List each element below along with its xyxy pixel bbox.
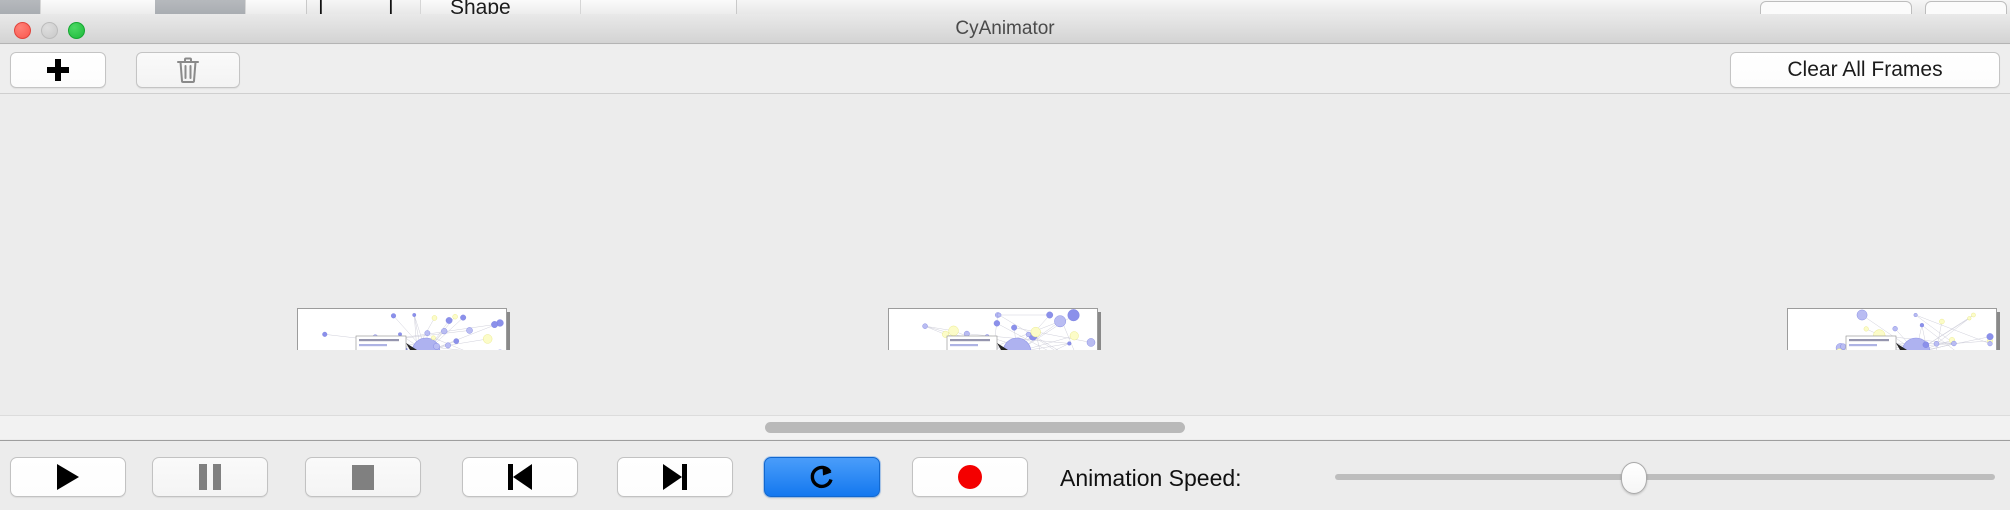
timeline-panel[interactable]: MCM1 MCM1 MCM1 2131415161718 Seconds — [0, 95, 2010, 350]
network-graph: MCM1 — [1788, 309, 1997, 350]
stop-icon — [352, 465, 374, 490]
title-bar: CyAnimator — [0, 14, 2010, 44]
background-window-label: Shape — [450, 0, 511, 14]
background-tab-1 — [40, 0, 157, 14]
background-tab-4 — [580, 0, 737, 14]
network-graph: MCM1 — [889, 309, 1098, 350]
background-window-strip: | | Shape — [0, 0, 2010, 14]
play-icon — [57, 464, 79, 490]
skip-to-start-icon — [508, 464, 532, 490]
background-dark-chip-2 — [155, 0, 245, 14]
stop-button[interactable] — [305, 457, 421, 497]
record-button[interactable] — [912, 457, 1028, 497]
record-icon — [958, 465, 982, 489]
skip-to-start-button[interactable] — [462, 457, 578, 497]
loop-button[interactable] — [764, 457, 880, 497]
hub-node-label: MCM1 — [1906, 349, 1927, 350]
background-dark-chip-1 — [0, 0, 40, 14]
animation-speed-label: Animation Speed: — [1060, 465, 1242, 492]
hub-node-label: MCM1 — [416, 349, 437, 350]
playback-control-bar: Animation Speed: — [0, 440, 2010, 510]
frame-thumbnail-1[interactable]: MCM1 — [297, 308, 507, 350]
hub-node-label: MCM1 — [1007, 349, 1028, 350]
frame-thumbnail-3[interactable]: MCM1 — [1787, 308, 1997, 350]
cyanimator-window: | | Shape CyAnimator Clear All Frames — [0, 0, 2010, 510]
loop-icon — [807, 462, 837, 492]
clear-all-frames-button[interactable]: Clear All Frames — [1730, 52, 2000, 88]
background-field-2 — [1925, 1, 2007, 14]
delete-frame-button[interactable] — [136, 52, 240, 88]
background-tab-2 — [245, 0, 307, 14]
skip-to-end-button[interactable] — [617, 457, 733, 497]
background-field-1 — [1760, 1, 1912, 14]
frame-thumbnail-2[interactable]: MCM1 — [888, 308, 1098, 350]
toolbar: Clear All Frames — [0, 45, 2010, 94]
pause-button[interactable] — [152, 457, 268, 497]
network-graph: MCM1 — [298, 309, 507, 350]
window-title: CyAnimator — [0, 14, 2010, 44]
skip-to-end-icon — [663, 464, 687, 490]
animation-speed-track — [1335, 474, 1995, 480]
plus-icon — [47, 59, 69, 81]
background-glyph-1: | — [318, 0, 324, 14]
horizontal-scrollbar-track[interactable] — [0, 415, 2010, 439]
horizontal-scrollbar-thumb[interactable] — [765, 422, 1185, 433]
trash-icon — [176, 56, 200, 84]
play-button[interactable] — [10, 457, 126, 497]
animation-speed-slider[interactable] — [1335, 468, 1995, 486]
add-frame-button[interactable] — [10, 52, 106, 88]
pause-icon — [198, 464, 222, 490]
animation-speed-thumb[interactable] — [1621, 462, 1647, 494]
background-glyph-2: | — [388, 0, 394, 14]
